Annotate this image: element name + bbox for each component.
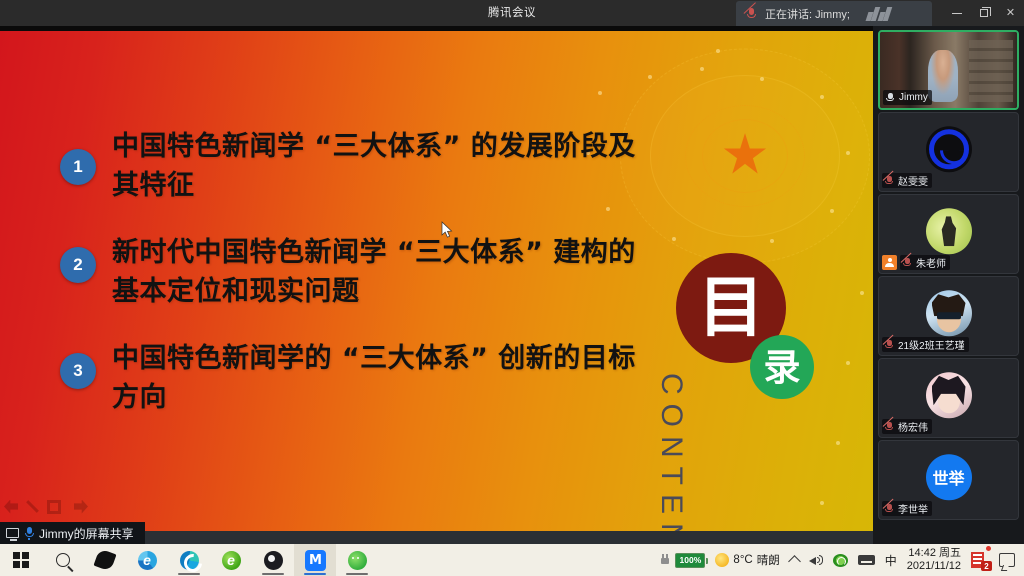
avatar bbox=[926, 290, 972, 336]
battery-percent: 100% bbox=[680, 555, 702, 565]
contents-char-mu: 目 bbox=[698, 275, 764, 341]
contents-badge-graphic: 目 录 CONTENTS bbox=[676, 253, 836, 536]
participant-tile[interactable]: Jimmy bbox=[878, 30, 1019, 110]
tray-network-button[interactable] bbox=[828, 544, 853, 576]
avatar bbox=[926, 126, 972, 172]
taskbar-apps: M bbox=[0, 544, 378, 576]
window-titlebar: 腾讯会议 正在讲话: Jimmy; ✕ bbox=[0, 0, 1024, 26]
contents-char-lu: 录 bbox=[764, 349, 801, 386]
participant-tile[interactable]: 朱老师 bbox=[878, 194, 1019, 274]
taskbar-item-edge[interactable] bbox=[168, 544, 210, 576]
toc-item-text: 中国特色新闻学的 “三大体系” 创新的目标方向 bbox=[112, 339, 660, 418]
annotation-toolbar[interactable] bbox=[4, 499, 88, 514]
shared-screen-stage[interactable]: 1 中国特色新闻学 “三大体系” 的发展阶段及其特征 2 新时代中国特色新闻学 … bbox=[0, 26, 873, 544]
microphone-icon bbox=[885, 92, 896, 103]
microphone-muted-icon bbox=[745, 7, 758, 20]
avatar bbox=[926, 372, 972, 418]
participant-tile[interactable]: 世举 李世举 bbox=[878, 440, 1019, 520]
restore-button[interactable] bbox=[970, 0, 997, 26]
windows-start-icon bbox=[13, 552, 29, 568]
sogou-icon bbox=[93, 548, 116, 571]
microphone-muted-icon bbox=[884, 421, 895, 432]
microphone-muted-icon bbox=[902, 257, 913, 268]
tray-clock[interactable]: 14:42 周五 2021/11/12 bbox=[902, 544, 966, 576]
toc-number-badge: 1 bbox=[60, 149, 96, 185]
tray-notification-button[interactable]: 2 bbox=[966, 544, 994, 576]
contents-circle-lu: 录 bbox=[750, 335, 814, 399]
notification-icon: 2 bbox=[971, 551, 989, 569]
taskbar-search-button[interactable] bbox=[42, 544, 84, 576]
monitor-icon bbox=[6, 528, 19, 538]
tray-ime-button[interactable]: 中 bbox=[880, 544, 902, 576]
chevron-up-icon bbox=[788, 555, 801, 568]
action-center-icon bbox=[999, 553, 1015, 567]
rectangle-icon[interactable] bbox=[47, 500, 61, 514]
clock-time: 14:42 周五 bbox=[908, 547, 961, 560]
presentation-slide: 1 中国特色新闻学 “三大体系” 的发展阶段及其特征 2 新时代中国特色新闻学 … bbox=[0, 31, 873, 536]
taskbar-item-browser[interactable] bbox=[210, 544, 252, 576]
tray-action-center-button[interactable] bbox=[994, 544, 1020, 576]
taskbar-item-tencent-meeting[interactable]: M bbox=[294, 544, 336, 576]
contents-word-en: CONTENTS bbox=[654, 373, 688, 536]
minimize-button[interactable] bbox=[943, 0, 970, 26]
clock-date: 2021/11/12 bbox=[907, 560, 961, 573]
tray-overflow-button[interactable] bbox=[785, 544, 804, 576]
toc-number-badge: 2 bbox=[60, 247, 96, 283]
participant-name: 赵雯雯 bbox=[898, 173, 928, 188]
toc-item: 2 新时代中国特色新闻学 “三大体系” 建构的基本定位和现实问题 bbox=[60, 233, 660, 312]
system-tray: 100% 8°C 晴朗 中 bbox=[655, 544, 1024, 576]
participant-name-chip: Jimmy bbox=[883, 90, 932, 105]
windows-taskbar: M 100% 8°C 晴朗 bbox=[0, 544, 1024, 576]
edge-icon bbox=[180, 551, 199, 570]
participant-name-chip: 杨宏伟 bbox=[882, 419, 932, 434]
participant-name: 李世举 bbox=[898, 501, 928, 516]
participant-name-chip: 21级2班王艺瑾 bbox=[882, 337, 969, 352]
taskbar-item-ie[interactable] bbox=[126, 544, 168, 576]
taskbar-item-wechat[interactable] bbox=[336, 544, 378, 576]
obs-icon bbox=[264, 551, 283, 570]
microphone-muted-icon bbox=[884, 339, 895, 350]
arrow-icon[interactable] bbox=[74, 500, 88, 514]
window-controls: ✕ bbox=[943, 0, 1024, 26]
share-owner-label: Jimmy的屏幕共享 bbox=[39, 525, 134, 542]
participant-name-chip: 赵雯雯 bbox=[882, 173, 932, 188]
toc-number-badge: 3 bbox=[60, 353, 96, 389]
avatar: 世举 bbox=[926, 454, 972, 500]
start-button[interactable] bbox=[0, 544, 42, 576]
speaker-icon bbox=[809, 554, 823, 566]
toc-item-text: 中国特色新闻学 “三大体系” 的发展阶段及其特征 bbox=[112, 127, 660, 206]
weather-temperature: 8°C bbox=[733, 554, 752, 566]
audio-wave-icon bbox=[867, 7, 890, 21]
participant-tile[interactable]: 杨宏伟 bbox=[878, 358, 1019, 438]
tencent-meeting-icon: M bbox=[305, 550, 326, 571]
ime-label: 中 bbox=[885, 552, 897, 569]
weather-description: 晴朗 bbox=[757, 552, 780, 568]
participant-name-chip: 朱老师 bbox=[900, 255, 950, 270]
microphone-muted-icon bbox=[884, 503, 895, 514]
participant-name: 杨宏伟 bbox=[898, 419, 928, 434]
keyboard-icon bbox=[858, 555, 875, 565]
participant-tile[interactable]: 赵雯雯 bbox=[878, 112, 1019, 192]
network-icon bbox=[833, 554, 848, 567]
speaking-indicator[interactable]: 正在讲话: Jimmy; bbox=[736, 1, 932, 26]
tray-battery[interactable]: 100% bbox=[655, 544, 710, 576]
toc-item: 3 中国特色新闻学的 “三大体系” 创新的目标方向 bbox=[60, 339, 660, 418]
tray-weather[interactable]: 8°C 晴朗 bbox=[710, 544, 784, 576]
participant-tile[interactable]: 21级2班王艺瑾 bbox=[878, 276, 1019, 356]
participant-name: 21级2班王艺瑾 bbox=[898, 337, 965, 352]
tray-keyboard-button[interactable] bbox=[853, 544, 880, 576]
taskbar-item-sogou[interactable] bbox=[84, 544, 126, 576]
sun-icon bbox=[715, 553, 729, 567]
screen-root: 腾讯会议 正在讲话: Jimmy; ✕ bbox=[0, 0, 1024, 576]
toc-item: 1 中国特色新闻学 “三大体系” 的发展阶段及其特征 bbox=[60, 127, 660, 206]
tray-volume-button[interactable] bbox=[804, 544, 828, 576]
speaking-label: 正在讲话: Jimmy; bbox=[765, 6, 850, 22]
power-plug-icon bbox=[660, 554, 670, 567]
participant-name: Jimmy bbox=[899, 92, 928, 103]
wechat-icon bbox=[348, 551, 367, 570]
undo-icon[interactable] bbox=[4, 500, 18, 514]
participant-name: 朱老师 bbox=[916, 255, 946, 270]
notification-count: 2 bbox=[981, 561, 992, 571]
avatar bbox=[926, 208, 972, 254]
host-badge-icon bbox=[882, 255, 897, 270]
microphone-muted-icon bbox=[884, 175, 895, 186]
internet-explorer-icon bbox=[138, 551, 157, 570]
participant-panel[interactable]: Jimmy 赵雯雯 朱老师 bbox=[873, 26, 1024, 544]
toc-item-text: 新时代中国特色新闻学 “三大体系” 建构的基本定位和现实问题 bbox=[112, 233, 660, 312]
slide-table-of-contents: 1 中国特色新闻学 “三大体系” 的发展阶段及其特征 2 新时代中国特色新闻学 … bbox=[60, 127, 660, 444]
taskbar-item-obs[interactable] bbox=[252, 544, 294, 576]
pen-icon[interactable] bbox=[26, 500, 39, 513]
screen-share-label: Jimmy的屏幕共享 bbox=[0, 522, 145, 544]
close-button[interactable]: ✕ bbox=[997, 0, 1024, 26]
search-icon bbox=[56, 553, 70, 567]
browser-icon bbox=[222, 551, 241, 570]
participant-name-chip: 李世举 bbox=[882, 501, 932, 516]
microphone-icon bbox=[24, 527, 34, 540]
battery-charging-icon: 100% bbox=[675, 553, 705, 568]
